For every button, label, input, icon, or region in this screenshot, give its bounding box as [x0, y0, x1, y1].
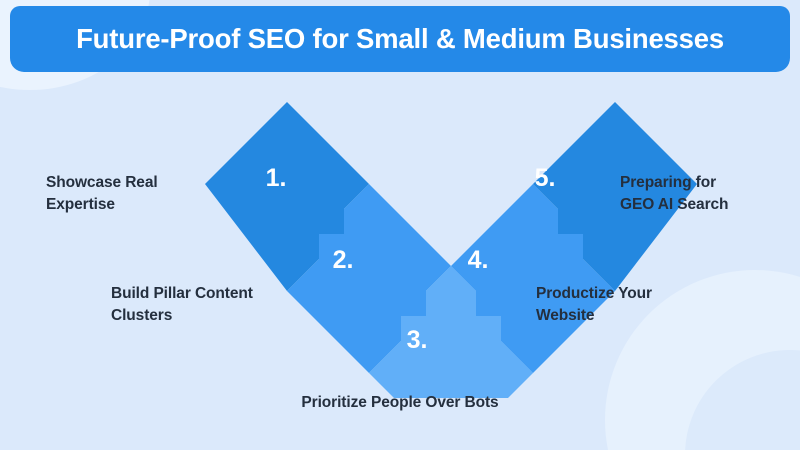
step-label-3-line1: Prioritize People Over Bots: [301, 392, 498, 414]
step-number-4: 4.: [468, 246, 489, 274]
step-label-1: Showcase Real Expertise: [46, 172, 158, 217]
step-label-4-line1: Productize Your: [536, 283, 652, 305]
step-label-3: Prioritize People Over Bots: [0, 392, 800, 414]
step-label-5-line1: Preparing for: [620, 172, 728, 194]
step-number-2: 2.: [333, 246, 354, 274]
step-label-1-line1: Showcase Real: [46, 172, 158, 194]
step-label-5-line2: GEO AI Search: [620, 194, 728, 216]
page-title: Future-Proof SEO for Small & Medium Busi…: [76, 23, 724, 55]
header-banner: Future-Proof SEO for Small & Medium Busi…: [10, 6, 790, 72]
step-label-2: Build Pillar Content Clusters: [111, 283, 253, 328]
step-label-4-line2: Website: [536, 305, 652, 327]
step-number-5: 5.: [535, 164, 556, 192]
step-label-2-line2: Clusters: [111, 305, 253, 327]
step-label-1-line2: Expertise: [46, 194, 158, 216]
infographic-canvas: Future-Proof SEO for Small & Medium Busi…: [0, 0, 800, 450]
step-label-2-line1: Build Pillar Content: [111, 283, 253, 305]
step-label-4: Productize Your Website: [536, 283, 652, 328]
diagram-svg: 1. 2. 3. 4. 5.: [0, 78, 800, 398]
step-number-1: 1.: [266, 164, 287, 192]
v-chevron-diagram: 1. 2. 3. 4. 5.: [0, 78, 800, 398]
step-label-5: Preparing for GEO AI Search: [620, 172, 728, 217]
step-number-3: 3.: [407, 326, 428, 354]
